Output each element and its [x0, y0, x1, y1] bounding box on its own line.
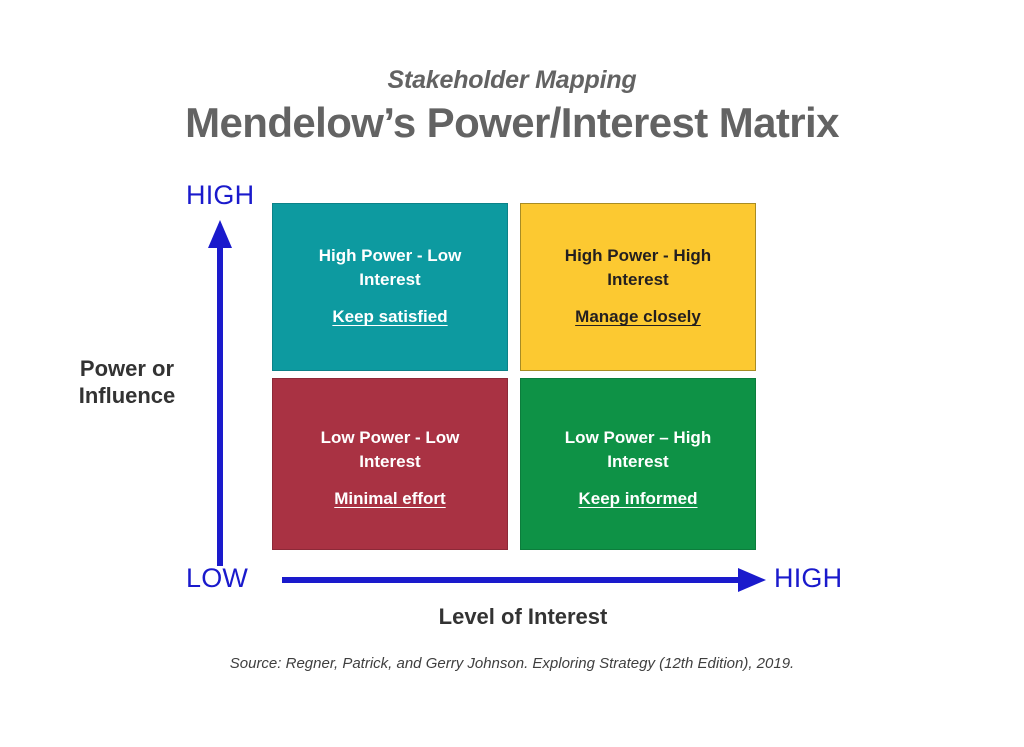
quadrant-action: Manage closely — [575, 307, 701, 327]
quadrant-title: Low Power - Low Interest — [294, 426, 486, 474]
quadrant-high-power-high-interest[interactable]: High Power - High Interest Manage closel… — [520, 203, 756, 371]
x-axis-arrow-icon — [280, 565, 768, 595]
x-axis-high-label: HIGH — [774, 563, 842, 594]
quadrant-action: Minimal effort — [334, 489, 445, 509]
quadrant-action: Keep informed — [578, 489, 697, 509]
quadrant-title: High Power - Low Interest — [294, 244, 486, 292]
source-citation: Source: Regner, Patrick, and Gerry Johns… — [0, 655, 1024, 672]
quadrant-high-power-low-interest[interactable]: High Power - Low Interest Keep satisfied — [272, 203, 508, 371]
quadrant-action: Keep satisfied — [332, 307, 447, 327]
y-axis-high-label: HIGH — [186, 180, 254, 211]
x-axis-low-label: LOW — [186, 563, 248, 594]
matrix-diagram: Stakeholder Mapping Mendelow’s Power/Int… — [0, 0, 1024, 747]
diagram-subtitle: Stakeholder Mapping — [0, 66, 1024, 95]
quadrant-low-power-low-interest[interactable]: Low Power - Low Interest Minimal effort — [272, 378, 508, 550]
y-axis-title: Power or Influence — [42, 356, 212, 410]
page-title: Mendelow’s Power/Interest Matrix — [0, 99, 1024, 147]
quadrant-title: Low Power – High Interest — [542, 426, 734, 474]
quadrant-title: High Power - High Interest — [542, 244, 734, 292]
quadrant-low-power-high-interest[interactable]: Low Power – High Interest Keep informed — [520, 378, 756, 550]
x-axis-title: Level of Interest — [283, 604, 763, 631]
